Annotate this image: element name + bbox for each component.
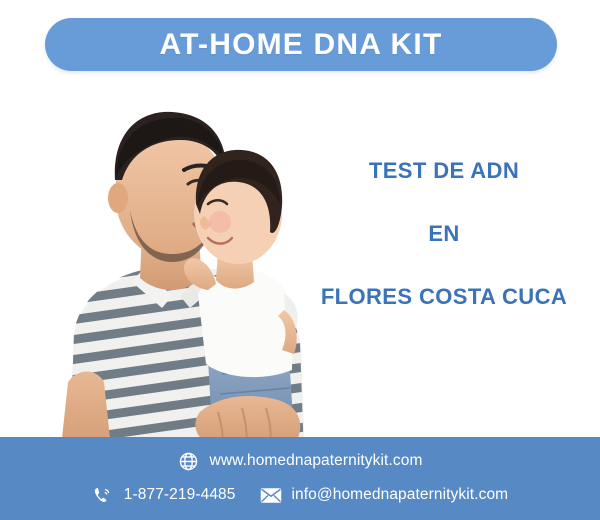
website-contact-item[interactable]: www.homednapaternitykit.com: [178, 450, 423, 472]
envelope-icon: [260, 484, 282, 506]
email-contact-item[interactable]: info@homednapaternitykit.com: [260, 484, 509, 506]
headline-line-2: EN: [300, 223, 588, 245]
contact-footer: www.homednapaternitykit.com 1-877-219-44…: [0, 437, 600, 520]
headline-block: TEST DE ADN EN FLORES COSTA CUCA: [300, 160, 588, 308]
headline-line-1: TEST DE ADN: [300, 160, 588, 182]
headline-line-3: FLORES COSTA CUCA: [300, 286, 588, 308]
promo-card: AT-HOME DNA KIT: [0, 0, 600, 520]
website-text: www.homednapaternitykit.com: [210, 452, 423, 470]
phone-icon: [92, 484, 114, 506]
footer-row-website: www.homednapaternitykit.com: [0, 445, 600, 477]
globe-icon: [178, 450, 200, 472]
footer-row-phone-email: 1-877-219-4485 info@homednapaternitykit.…: [0, 479, 600, 511]
page-title: AT-HOME DNA KIT: [160, 30, 443, 60]
phone-contact-item[interactable]: 1-877-219-4485: [92, 484, 236, 506]
phone-text: 1-877-219-4485: [124, 486, 236, 504]
family-photo: [12, 82, 332, 457]
email-text: info@homednapaternitykit.com: [292, 486, 509, 504]
header-banner: AT-HOME DNA KIT: [45, 18, 557, 71]
